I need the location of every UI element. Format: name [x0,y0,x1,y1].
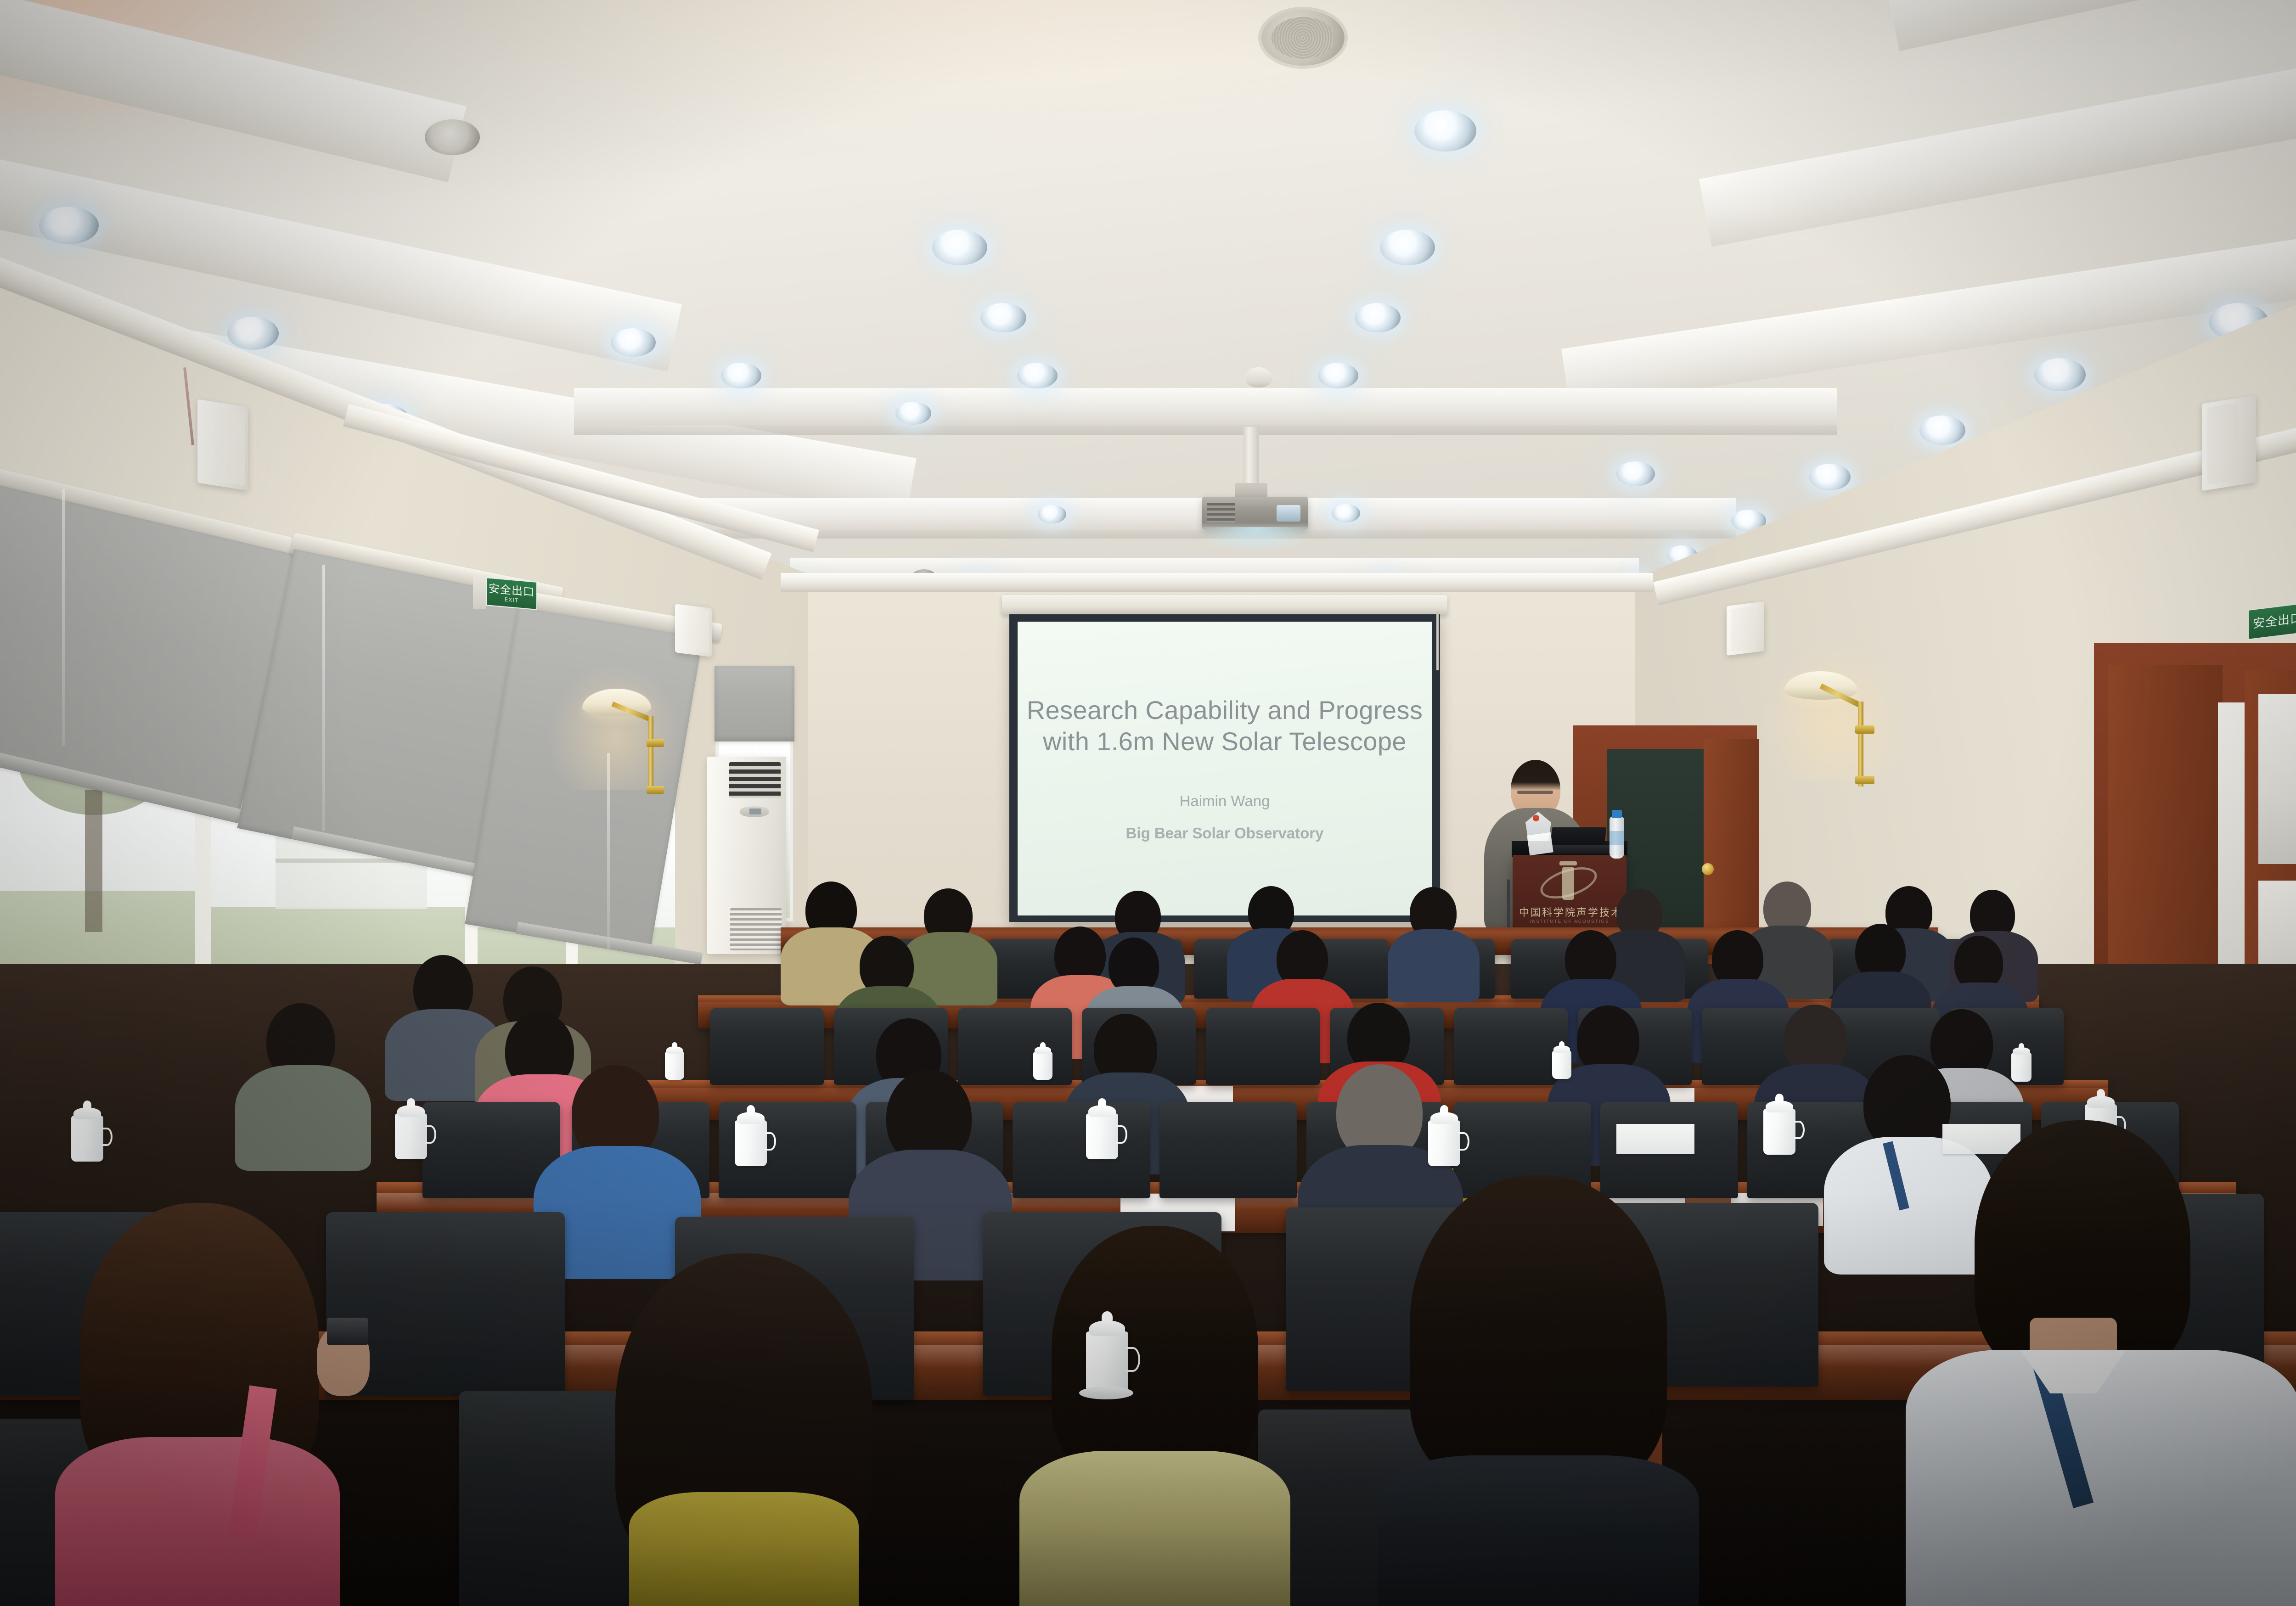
teacup-handle [1458,1132,1469,1151]
slide-presenter-name: Haimin Wang [1180,792,1270,810]
downlight [1414,110,1476,152]
downlight [1809,464,1851,490]
teacup[interactable] [71,1116,103,1162]
teacup-handle [101,1128,113,1146]
podium-logo-core [1562,867,1574,900]
sconce-glow-left [546,661,684,790]
downlight [611,328,656,357]
downlight [1355,303,1401,332]
chair[interactable] [1159,1102,1297,1198]
speaker-grille [1731,606,1753,651]
presenter-microphone [1533,815,1539,821]
downlight [895,402,931,425]
projector-vent [1207,503,1235,522]
tree-trunk [85,790,102,932]
attendee-r1-5-body [1388,929,1480,1002]
attendee-r3-1-body [235,1065,371,1171]
teacup[interactable] [1428,1120,1460,1166]
podium-logo-top-bar [1559,861,1577,865]
teacup-knob [747,1105,755,1114]
water-bottle [1609,816,1624,859]
wall-sconce-right-bracket [1855,725,1874,734]
exit-sign-text-cn: 安全出口 [2253,612,2296,630]
teacup-knob [672,1042,677,1049]
downlight [721,363,761,388]
speaker-grille [215,406,245,485]
ac-display [749,809,761,814]
wall-speaker-right [2202,395,2256,491]
teacup-knob [1559,1041,1564,1048]
attendee-front-mid-woman-collar [629,1492,859,1606]
downlight [1919,416,1965,445]
ceiling-projector [1202,497,1308,530]
presenter-notes [1527,832,1553,856]
teacup-knob [2019,1043,2024,1050]
podium-institute-name-latin: INSTITUTE OF ACOUSTICS [1519,919,1620,924]
sconce-glow-right [1759,643,1910,781]
teacup-knob [1440,1105,1448,1114]
screen-cable [1436,611,1439,670]
projector-lens [1277,505,1300,522]
slide-title-line2: with 1.6m New Solar Telescope [1043,726,1407,757]
presenter-laptop-base [1548,845,1613,854]
downlight [39,207,99,244]
attendee-front-right-man-shirt [1906,1350,2296,1606]
teacup-knob [1775,1094,1784,1103]
conference-room-photo: 安全出口 EXIT 安全出口 Research Capability and P… [0,0,2296,1606]
teacup-handle [1794,1121,1805,1139]
projection-screen-border: Research Capability and Progress with 1.… [1009,614,1440,922]
attendee-front-center-left-shoulder [1019,1451,1290,1606]
ac-bottom-grille [730,908,782,950]
attendee-front-center-left-hair [1052,1226,1258,1483]
teacup[interactable] [1763,1109,1795,1155]
teacup-knob [407,1098,415,1107]
wall-speaker-left [197,399,248,490]
presenter-laptop-screen [1550,827,1606,847]
wall-sconce-left-bracket [647,786,664,794]
speaker-grille [2207,403,2239,485]
downlight [1380,230,1435,265]
downlight [932,230,987,265]
teacup[interactable] [2011,1052,2032,1082]
teacup[interactable] [1086,1113,1118,1159]
teacup[interactable] [395,1113,427,1159]
chair[interactable] [958,1008,1072,1085]
projection-screen-housing [1002,595,1447,615]
attendee-front-center-shoulder [1378,1455,1699,1606]
attendee-front-center-hair [1410,1175,1667,1488]
teacup[interactable] [735,1120,767,1166]
chair[interactable] [710,1008,824,1085]
downlight [2034,358,2086,391]
slide-title-line1: Research Capability and Progress [1027,695,1423,725]
downlight [1332,504,1360,522]
teacup-knob [1040,1042,1046,1049]
downlight [980,303,1026,332]
teacup[interactable] [665,1051,684,1080]
exit-sign-left[interactable]: 安全出口 EXIT [486,577,537,610]
downlight [1616,461,1655,486]
podium-institute-name: 中国科学院声学技术研究所 [1519,904,1620,919]
wall-sconce-right-post [1858,702,1863,786]
ac-top-grille [729,762,781,798]
teacup[interactable] [1086,1331,1128,1392]
teacup-knob [1102,1311,1113,1323]
wall-speaker-back-left [675,604,712,657]
napkin [1616,1124,1694,1154]
teacup[interactable] [1033,1051,1052,1080]
air-conditioner-unit [707,757,786,954]
downlight [1038,505,1066,523]
bottle-label [1609,831,1624,845]
teacup-knob [2097,1089,2105,1098]
right-door-glass-upper [2258,694,2296,864]
teacup-handle [1116,1125,1127,1144]
wall-sconce-left-post [648,716,653,794]
slide-affiliation: Big Bear Solar Observatory [1126,825,1324,842]
teacup-handle [765,1132,776,1151]
napkin [1942,1124,2020,1154]
crown-molding-back [781,573,1653,592]
projection-screen-surface: Research Capability and Progress with 1.… [1018,622,1432,915]
blind-chain-2 [322,565,325,831]
attendee-front-left-woman-shoulder [55,1437,340,1606]
teacup-handle [1125,1347,1140,1372]
smoke-detector [1245,367,1272,387]
speaker-grille [687,609,709,653]
chair[interactable] [1454,1008,1568,1085]
chair[interactable] [1206,1008,1320,1085]
blind-chain-1 [62,489,65,746]
ac-control-panel [740,806,769,817]
wall-sconce-left-bracket [647,739,664,747]
downlight [227,317,279,350]
downlight [1017,363,1058,388]
exit-sign-text-cn: 安全出口 [489,583,535,598]
stage-door-handle[interactable] [1702,863,1714,875]
wall-sconce-right-bracket [1855,776,1874,784]
attendee-front-left-woman-camera [327,1318,368,1345]
bottle-cap [1612,810,1622,818]
ceiling-speaker-mesh [1272,17,1335,59]
downlight [1318,363,1358,388]
ceiling-soffit-edge-1 [574,425,1837,435]
downlight-off [425,119,480,155]
ceiling-speaker-diffuser [1258,7,1348,69]
exit-sign-housing-left [473,576,486,609]
saucer [1079,1387,1133,1399]
window-blind-4 [715,666,794,741]
projector-light-glow [1194,527,1318,555]
presenter-glasses [1517,791,1553,794]
teacup[interactable] [1552,1050,1571,1079]
ceiling-soffit-step-1 [574,388,1837,425]
teacup-knob [83,1101,91,1110]
teacup-knob [1098,1098,1106,1107]
exit-sign-text-en: EXIT [505,596,519,603]
chair[interactable] [1013,1102,1150,1198]
teacup-handle [425,1125,436,1144]
